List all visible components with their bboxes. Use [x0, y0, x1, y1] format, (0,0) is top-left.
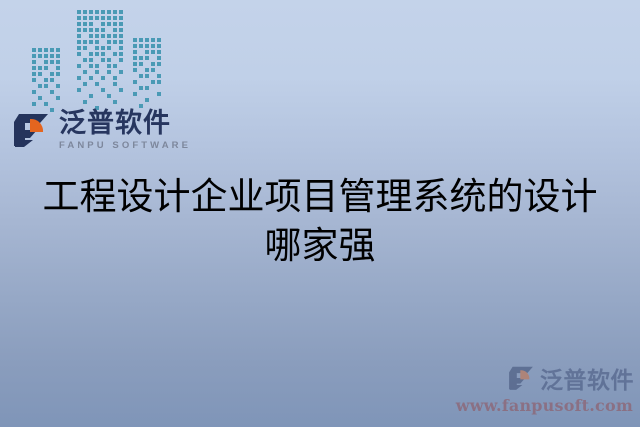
page-title-line-1: 工程设计企业项目管理系统的设计 [0, 172, 640, 221]
brand-name-en: FANPU SOFTWARE [59, 141, 191, 151]
watermark-logo-row: 泛普软件 [506, 361, 634, 395]
fanpu-logo-mark-icon [10, 110, 52, 150]
pixel-building-skyline-icon [30, 8, 170, 118]
promo-banner: 泛普软件 FANPU SOFTWARE 工程设计企业项目管理系统的设计 哪家强 … [0, 0, 640, 427]
watermark: 泛普软件 www.fanpusoft.com [456, 361, 634, 415]
page-title-line-2: 哪家强 [0, 221, 640, 270]
watermark-url: www.fanpusoft.com [456, 396, 633, 415]
brand-wordmark: 泛普软件 FANPU SOFTWARE [59, 110, 191, 150]
fanpu-logo-mark-watermark-icon [506, 364, 536, 392]
brand-logo: 泛普软件 FANPU SOFTWARE [10, 110, 191, 150]
watermark-name-cn: 泛普软件 [540, 361, 634, 395]
page-title: 工程设计企业项目管理系统的设计 哪家强 [0, 172, 640, 270]
brand-name-cn: 泛普软件 [59, 110, 191, 138]
